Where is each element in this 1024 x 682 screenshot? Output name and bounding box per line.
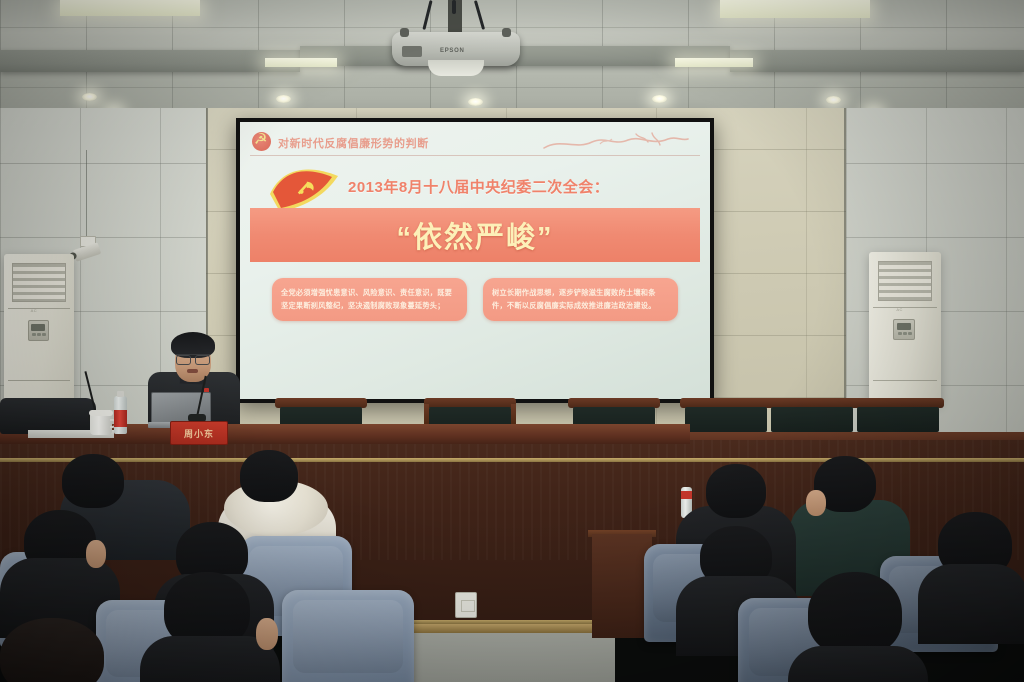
ac-left-button-1[interactable] (32, 333, 36, 336)
audience-seat-6[interactable] (282, 590, 414, 682)
attendee-8-shoulders (918, 564, 1024, 644)
ac-left-control-panel[interactable] (28, 320, 49, 341)
attendee-11-head (808, 572, 902, 656)
projection-screen: 对新时代反腐倡廉形势的判断 (236, 118, 714, 403)
back-chair-5 (766, 398, 858, 432)
slide-banner: “依然严峻” (250, 208, 700, 262)
projector-brand-label: EPSON (440, 48, 465, 54)
name-plate-text: 周小东 (184, 427, 214, 440)
attendee-1-head (62, 454, 124, 508)
ceiling-panel-light-2 (720, 0, 870, 18)
back-chair-4 (680, 398, 772, 432)
projector-foot-right (502, 28, 511, 37)
slide-banner-text: “依然严峻” (396, 214, 553, 256)
ac-left-display (31, 324, 45, 331)
ac-left-louvers (12, 263, 65, 302)
ac-right-button-3[interactable] (908, 332, 912, 335)
ac-right-seam (873, 307, 936, 308)
projector-foot-left (400, 28, 409, 37)
air-conditioner-right: AC (869, 252, 941, 404)
attendee-5-hand (86, 540, 106, 568)
air-conditioner-left: AC (4, 254, 74, 404)
ac-right-seam-2 (873, 380, 936, 381)
presentation-slide: 对新时代反腐倡廉形势的判断 (240, 122, 710, 399)
slide-header: 对新时代反腐倡廉形势的判断 (250, 130, 700, 156)
back-chair-5-seat (771, 407, 853, 432)
slide-headline: 2013年8月十八届中央纪委二次全会： (348, 176, 692, 197)
ceiling-downlight-5 (652, 95, 667, 103)
ceiling-panel-light-4 (675, 58, 753, 67)
tea-cup (90, 414, 112, 435)
projector-cable-3 (452, 0, 456, 14)
ceiling-beam-right (730, 50, 1024, 72)
water-bottle-label (114, 410, 127, 427)
presenter-mouth (187, 369, 198, 373)
attendee-11-shoulders (788, 646, 928, 682)
attendee-9-hand (256, 618, 278, 650)
slide-bullet-right: 树立长期作战思想，逐步铲除滋生腐败的土壤和条件，不断以反腐倡廉实际成效推进廉洁政… (483, 278, 678, 321)
ceiling-panel-light-1 (60, 0, 200, 16)
ac-left-button-2[interactable] (37, 333, 41, 336)
ac-right-control-panel[interactable] (893, 319, 915, 340)
ac-right-button-1[interactable] (898, 332, 902, 335)
water-bottle-presenter (114, 396, 127, 434)
ac-left-seam-2 (8, 380, 70, 381)
ac-right-button-2[interactable] (903, 332, 907, 335)
ac-right-display (897, 323, 911, 330)
back-chair-4-seat (685, 407, 767, 432)
ceiling-panel-light-3 (265, 58, 337, 67)
attendee-10-head (0, 618, 104, 682)
camera-wire (86, 150, 87, 250)
calligraphy-watermark-icon (540, 130, 690, 156)
ac-right-logo: AC (896, 307, 903, 312)
slide-header-divider (250, 155, 700, 156)
slide-header-title: 对新时代反腐倡廉形势的判断 (278, 135, 429, 151)
presenter-glasses-icon (176, 354, 210, 362)
attendee-3-hand (806, 490, 826, 516)
slide-bullet-left: 全党必须增强忧患意识、风险意识、责任意识，既要坚定果断刹风整纪，坚决遏制腐败现象… (272, 278, 467, 321)
ac-left-logo: AC (31, 308, 38, 313)
back-chair-6 (852, 398, 944, 432)
audience-area (0, 440, 1024, 682)
party-emblem-icon (252, 132, 271, 151)
ceiling-beam-left (0, 50, 300, 72)
projector-vent (402, 46, 422, 57)
lecture-hall-photo: EPSON AC AC (0, 0, 1024, 682)
ceiling-downlight-6 (826, 96, 841, 104)
tea-cup-lid (89, 410, 113, 416)
ceiling-projector: EPSON (392, 26, 520, 72)
ac-right-louvers (878, 261, 933, 301)
projector-lens (428, 60, 484, 76)
water-bottle-cap (117, 391, 124, 397)
slide-bullet-row: 全党必须增强忧患意识、风险意识、责任意识，既要坚定果断刹风整纪，坚决遏制腐败现象… (250, 278, 700, 321)
ceiling-downlight-1 (82, 93, 97, 101)
ac-left-seam (8, 308, 70, 309)
ceiling-downlight-3 (276, 95, 291, 103)
document-bag (0, 398, 96, 434)
ceiling: EPSON (0, 0, 1024, 118)
ac-left-button-3[interactable] (42, 333, 46, 336)
attendee-4-head (706, 464, 766, 518)
ceiling-downlight-4 (468, 98, 483, 106)
side-table (592, 534, 652, 638)
attendee-2-head (240, 450, 298, 502)
back-chair-6-seat (857, 407, 939, 432)
